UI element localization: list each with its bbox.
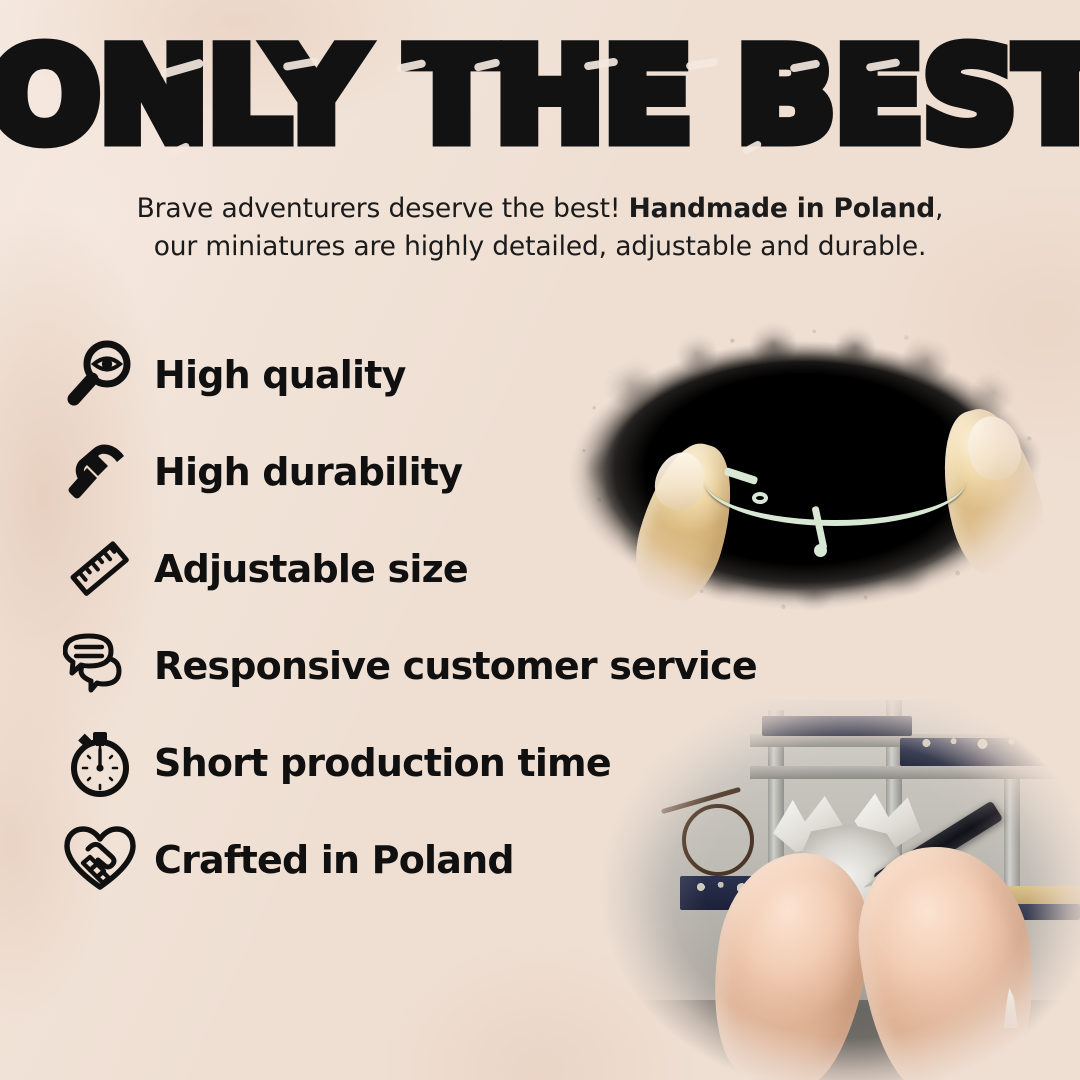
- feature-label: High quality: [154, 356, 406, 394]
- speech-bubbles-icon: [62, 628, 138, 704]
- page-title: ONLY THE BEST: [0, 38, 1080, 156]
- feature-label: High durability: [154, 453, 462, 491]
- flexible-part-tip: [814, 544, 827, 557]
- subtitle-lead: Brave adventurers deserve the best!: [137, 193, 629, 224]
- feature-label: Crafted in Poland: [154, 841, 514, 879]
- handshake-heart-icon: [62, 822, 138, 898]
- infographic-canvas: ONLY THE BEST Brave adventurers deserve …: [0, 0, 1080, 1080]
- flexible-miniature-photo: [548, 316, 1060, 622]
- subtitle-comma: ,: [935, 193, 943, 224]
- hammer-icon: [62, 434, 138, 510]
- eyeglasses-lens: [682, 804, 754, 876]
- feature-label: Short production time: [154, 744, 611, 782]
- feature-label: Adjustable size: [154, 550, 468, 588]
- subtitle: Brave adventurers deserve the best! Hand…: [90, 190, 990, 265]
- subtitle-line2: our miniatures are highly detailed, adju…: [154, 231, 927, 262]
- stopwatch-icon: [62, 725, 138, 801]
- subtitle-bold-phrase: Handmade in Poland: [629, 193, 935, 224]
- workshop-painting-photo: [600, 700, 1080, 1080]
- flexible-part-ring: [752, 492, 768, 504]
- headline-container: ONLY THE BEST: [0, 38, 1080, 156]
- ruler-icon: [62, 531, 138, 607]
- shelf-beam-mid: [750, 766, 1080, 779]
- feature-label: Responsive customer service: [154, 647, 757, 685]
- parts-tray-top: [762, 716, 912, 736]
- miniature-parts-top: [906, 734, 1076, 752]
- magnifier-eye-icon: [62, 337, 138, 413]
